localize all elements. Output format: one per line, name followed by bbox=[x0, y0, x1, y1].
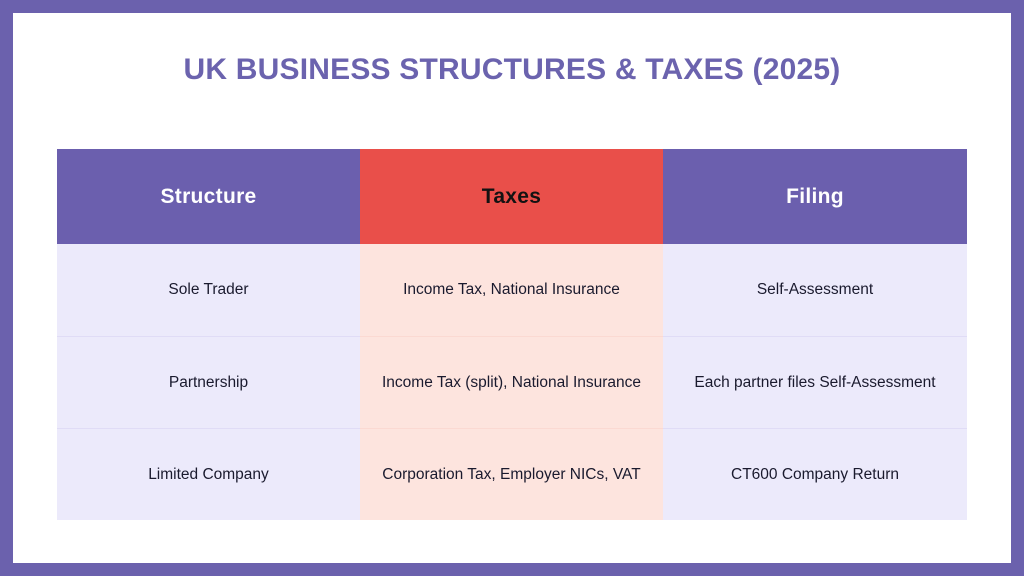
column-header-taxes: Taxes bbox=[360, 149, 663, 244]
slide-canvas: UK BUSINESS STRUCTURES & TAXES (2025) St… bbox=[13, 13, 1011, 563]
page-title: UK BUSINESS STRUCTURES & TAXES (2025) bbox=[13, 53, 1011, 87]
business-structures-table: Structure Taxes Filing Sole Trader Incom… bbox=[57, 149, 967, 520]
table-header-row: Structure Taxes Filing bbox=[57, 149, 967, 244]
cell-taxes: Income Tax, National Insurance bbox=[360, 244, 663, 336]
column-header-structure: Structure bbox=[57, 149, 360, 244]
table-row: Limited Company Corporation Tax, Employe… bbox=[57, 428, 967, 520]
cell-structure: Limited Company bbox=[57, 428, 360, 520]
cell-filing: Each partner files Self-Assessment bbox=[663, 336, 967, 428]
cell-structure: Partnership bbox=[57, 336, 360, 428]
column-header-filing: Filing bbox=[663, 149, 967, 244]
table-row: Partnership Income Tax (split), National… bbox=[57, 336, 967, 428]
cell-taxes: Income Tax (split), National Insurance bbox=[360, 336, 663, 428]
cell-structure: Sole Trader bbox=[57, 244, 360, 336]
cell-filing: CT600 Company Return bbox=[663, 428, 967, 520]
cell-taxes: Corporation Tax, Employer NICs, VAT bbox=[360, 428, 663, 520]
cell-filing: Self-Assessment bbox=[663, 244, 967, 336]
table-row: Sole Trader Income Tax, National Insuran… bbox=[57, 244, 967, 336]
